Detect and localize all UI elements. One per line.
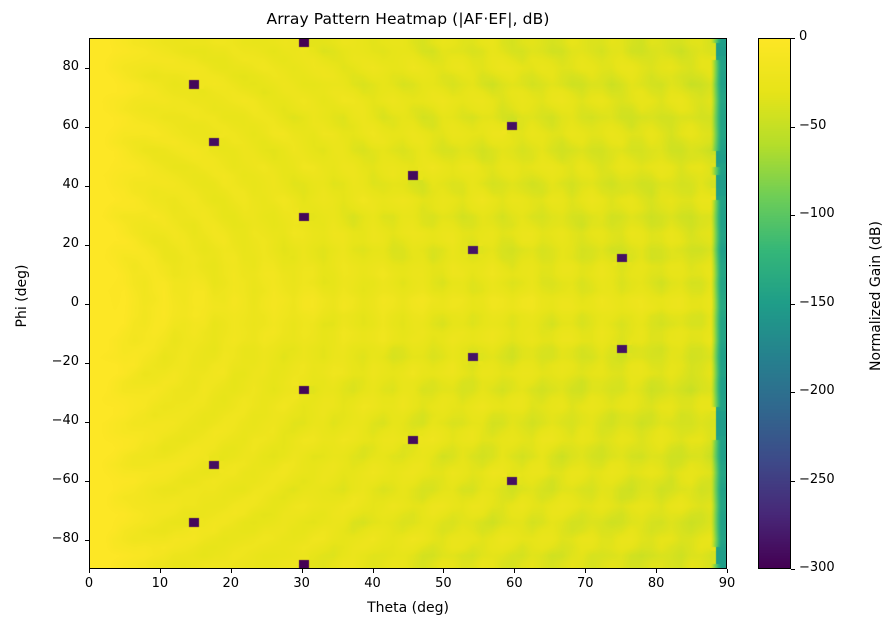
y-tick bbox=[85, 127, 89, 128]
x-tick bbox=[231, 569, 232, 573]
y-tick bbox=[85, 304, 89, 305]
x-tick bbox=[160, 569, 161, 573]
x-tick-label: 10 bbox=[140, 576, 180, 591]
x-tick-label: 90 bbox=[707, 576, 747, 591]
x-tick-label: 40 bbox=[353, 576, 393, 591]
x-tick-label: 60 bbox=[494, 576, 534, 591]
y-tick bbox=[85, 481, 89, 482]
x-tick bbox=[585, 569, 586, 573]
y-tick-label: 80 bbox=[33, 59, 79, 74]
colorbar-tick-label: −50 bbox=[799, 118, 826, 133]
y-tick-label: −60 bbox=[33, 472, 79, 487]
colorbar-tick bbox=[791, 127, 795, 128]
x-tick-label: 80 bbox=[636, 576, 676, 591]
y-tick-label: 20 bbox=[33, 236, 79, 251]
x-tick bbox=[514, 569, 515, 573]
x-tick bbox=[89, 569, 90, 573]
y-tick bbox=[85, 186, 89, 187]
x-tick-label: 50 bbox=[423, 576, 463, 591]
colorbar-tick-label: −100 bbox=[799, 206, 835, 221]
x-tick bbox=[727, 569, 728, 573]
colorbar-tick-label: −300 bbox=[799, 560, 835, 575]
colorbar-tick bbox=[791, 569, 795, 570]
chart-title: Array Pattern Heatmap (|AF·EF|, dB) bbox=[89, 10, 727, 28]
y-tick bbox=[85, 540, 89, 541]
x-tick-label: 30 bbox=[282, 576, 322, 591]
x-tick bbox=[302, 569, 303, 573]
colorbar-tick-label: −150 bbox=[799, 295, 835, 310]
y-tick-label: 60 bbox=[33, 118, 79, 133]
colorbar-tick bbox=[791, 481, 795, 482]
colorbar-tick bbox=[791, 38, 795, 39]
figure-canvas: Array Pattern Heatmap (|AF·EF|, dB) Thet… bbox=[0, 0, 885, 637]
y-tick-label: −40 bbox=[33, 413, 79, 428]
heatmap-image[interactable] bbox=[90, 39, 726, 568]
colorbar-tick bbox=[791, 215, 795, 216]
y-axis-label: Phi (deg) bbox=[14, 226, 30, 366]
colorbar-tick-label: −200 bbox=[799, 383, 835, 398]
x-tick-label: 0 bbox=[69, 576, 109, 591]
x-tick bbox=[373, 569, 374, 573]
colorbar-tick bbox=[791, 304, 795, 305]
y-tick bbox=[85, 363, 89, 364]
y-tick-label: 0 bbox=[33, 295, 79, 310]
x-axis-label: Theta (deg) bbox=[89, 600, 727, 616]
colorbar-gradient bbox=[759, 39, 790, 568]
colorbar-tick-label: 0 bbox=[799, 29, 807, 44]
colorbar-tick bbox=[791, 392, 795, 393]
y-tick-label: −80 bbox=[33, 531, 79, 546]
x-tick-label: 70 bbox=[565, 576, 605, 591]
colorbar[interactable] bbox=[758, 38, 791, 569]
colorbar-tick-label: −250 bbox=[799, 472, 835, 487]
y-tick bbox=[85, 422, 89, 423]
y-tick-label: −20 bbox=[33, 354, 79, 369]
colorbar-label: Normalized Gain (dB) bbox=[868, 206, 884, 386]
x-tick bbox=[443, 569, 444, 573]
y-tick bbox=[85, 245, 89, 246]
x-tick-label: 20 bbox=[211, 576, 251, 591]
y-tick-label: 40 bbox=[33, 177, 79, 192]
x-tick bbox=[656, 569, 657, 573]
y-tick bbox=[85, 68, 89, 69]
heatmap-axes[interactable] bbox=[89, 38, 727, 569]
